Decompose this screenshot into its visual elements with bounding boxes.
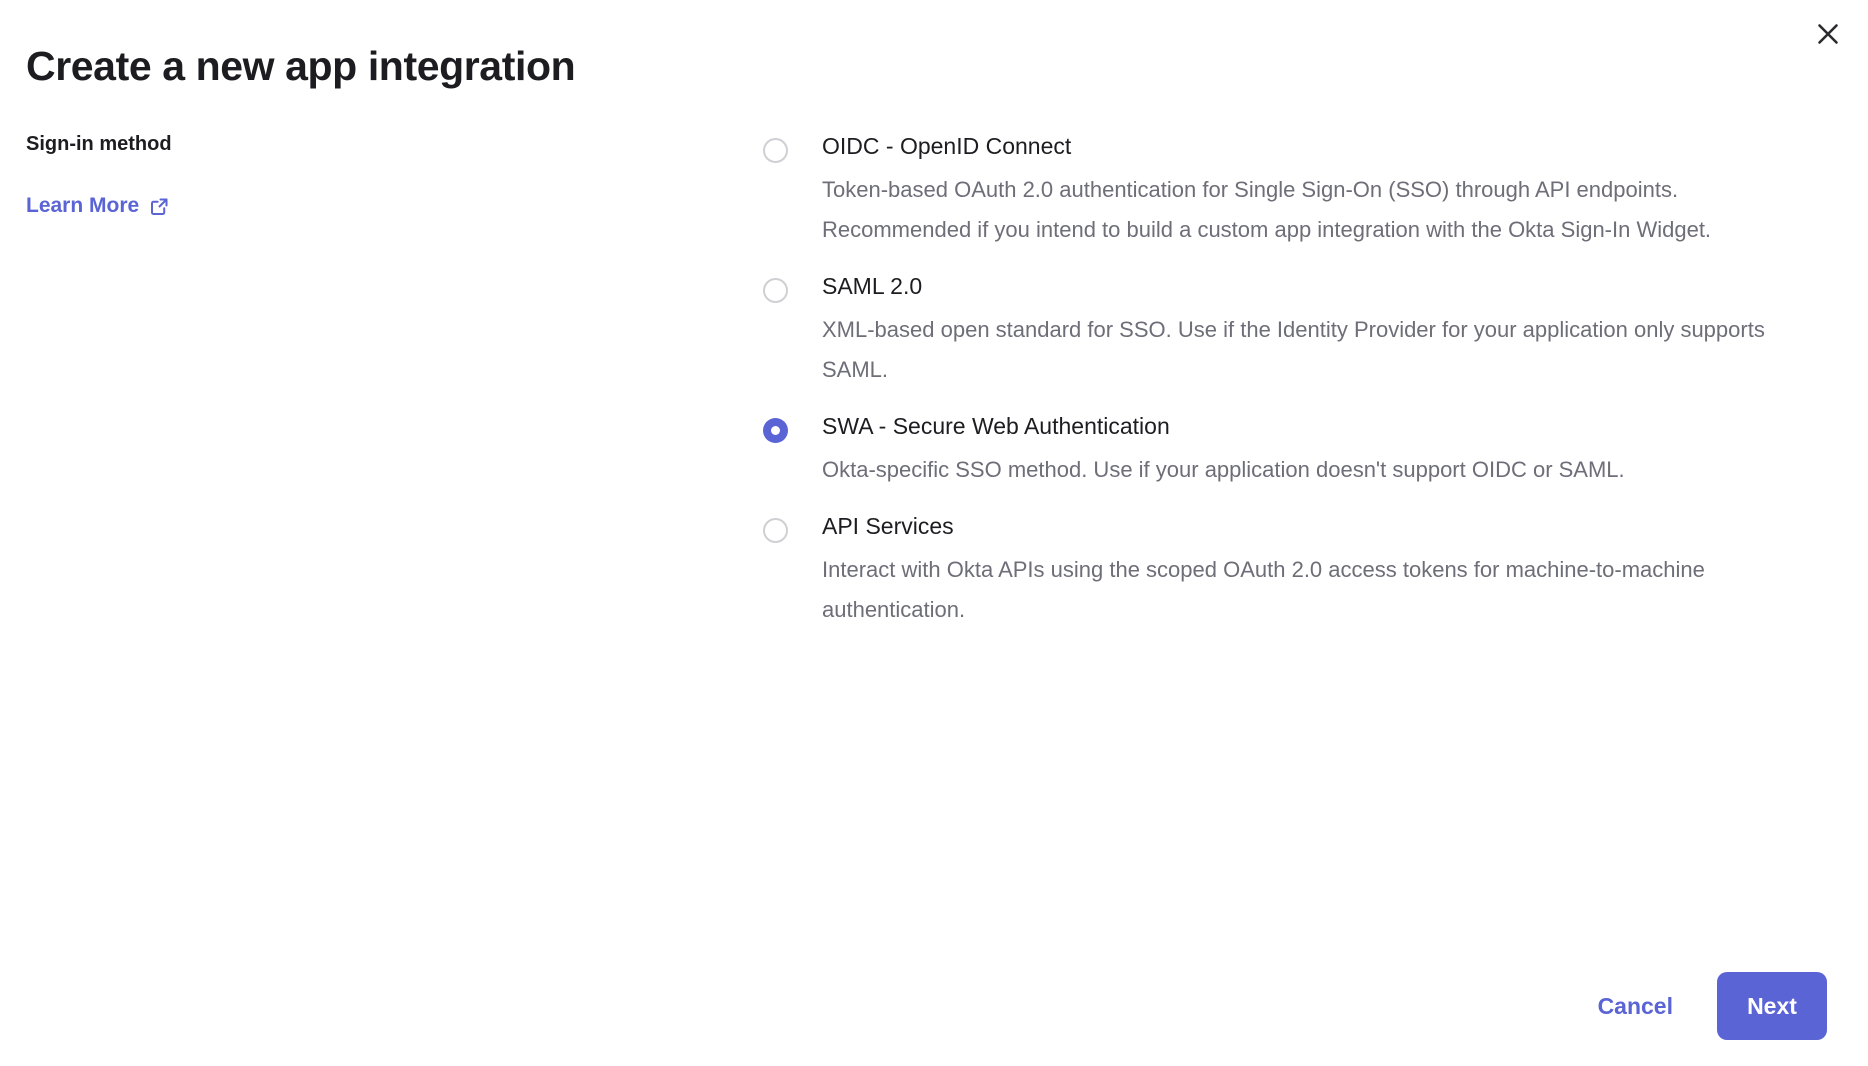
learn-more-label: Learn More [26, 192, 139, 220]
option-label: SWA - Secure Web Authentication [822, 410, 1843, 442]
option-label: OIDC - OpenID Connect [822, 130, 1843, 162]
close-dialog-button[interactable] [1806, 12, 1850, 56]
sign-in-method-radio-group[interactable]: OIDC - OpenID Connect Token-based OAuth … [763, 130, 1843, 630]
external-link-icon [149, 196, 170, 217]
option-label: API Services [822, 510, 1843, 542]
radio-oidc[interactable] [763, 138, 788, 163]
radio-swa[interactable] [763, 418, 788, 443]
next-button[interactable]: Next [1717, 972, 1827, 1040]
option-description: Interact with Okta APIs using the scoped… [822, 550, 1832, 630]
option-api-services[interactable]: API Services Interact with Okta APIs usi… [763, 510, 1843, 630]
option-label: SAML 2.0 [822, 270, 1843, 302]
dialog-footer: Cancel Next [0, 946, 1868, 1066]
option-oidc[interactable]: OIDC - OpenID Connect Token-based OAuth … [763, 130, 1843, 250]
learn-more-link[interactable]: Learn More [26, 192, 170, 220]
cancel-button[interactable]: Cancel [1592, 985, 1679, 1028]
option-description: Okta-specific SSO method. Use if your ap… [822, 450, 1832, 490]
radio-saml[interactable] [763, 278, 788, 303]
option-description: Token-based OAuth 2.0 authentication for… [822, 170, 1832, 250]
sign-in-method-column: Sign-in method Learn More [26, 130, 586, 220]
option-description: XML-based open standard for SSO. Use if … [822, 310, 1832, 390]
close-icon [1815, 21, 1841, 47]
option-saml[interactable]: SAML 2.0 XML-based open standard for SSO… [763, 270, 1843, 390]
sign-in-method-label: Sign-in method [26, 130, 586, 158]
dialog-body: Sign-in method Learn More OIDC - OpenID … [0, 130, 1868, 930]
create-app-integration-dialog: Create a new app integration Sign-in met… [0, 0, 1868, 1066]
page-title: Create a new app integration [26, 40, 575, 92]
radio-api-services[interactable] [763, 518, 788, 543]
option-swa[interactable]: SWA - Secure Web Authentication Okta-spe… [763, 410, 1843, 490]
